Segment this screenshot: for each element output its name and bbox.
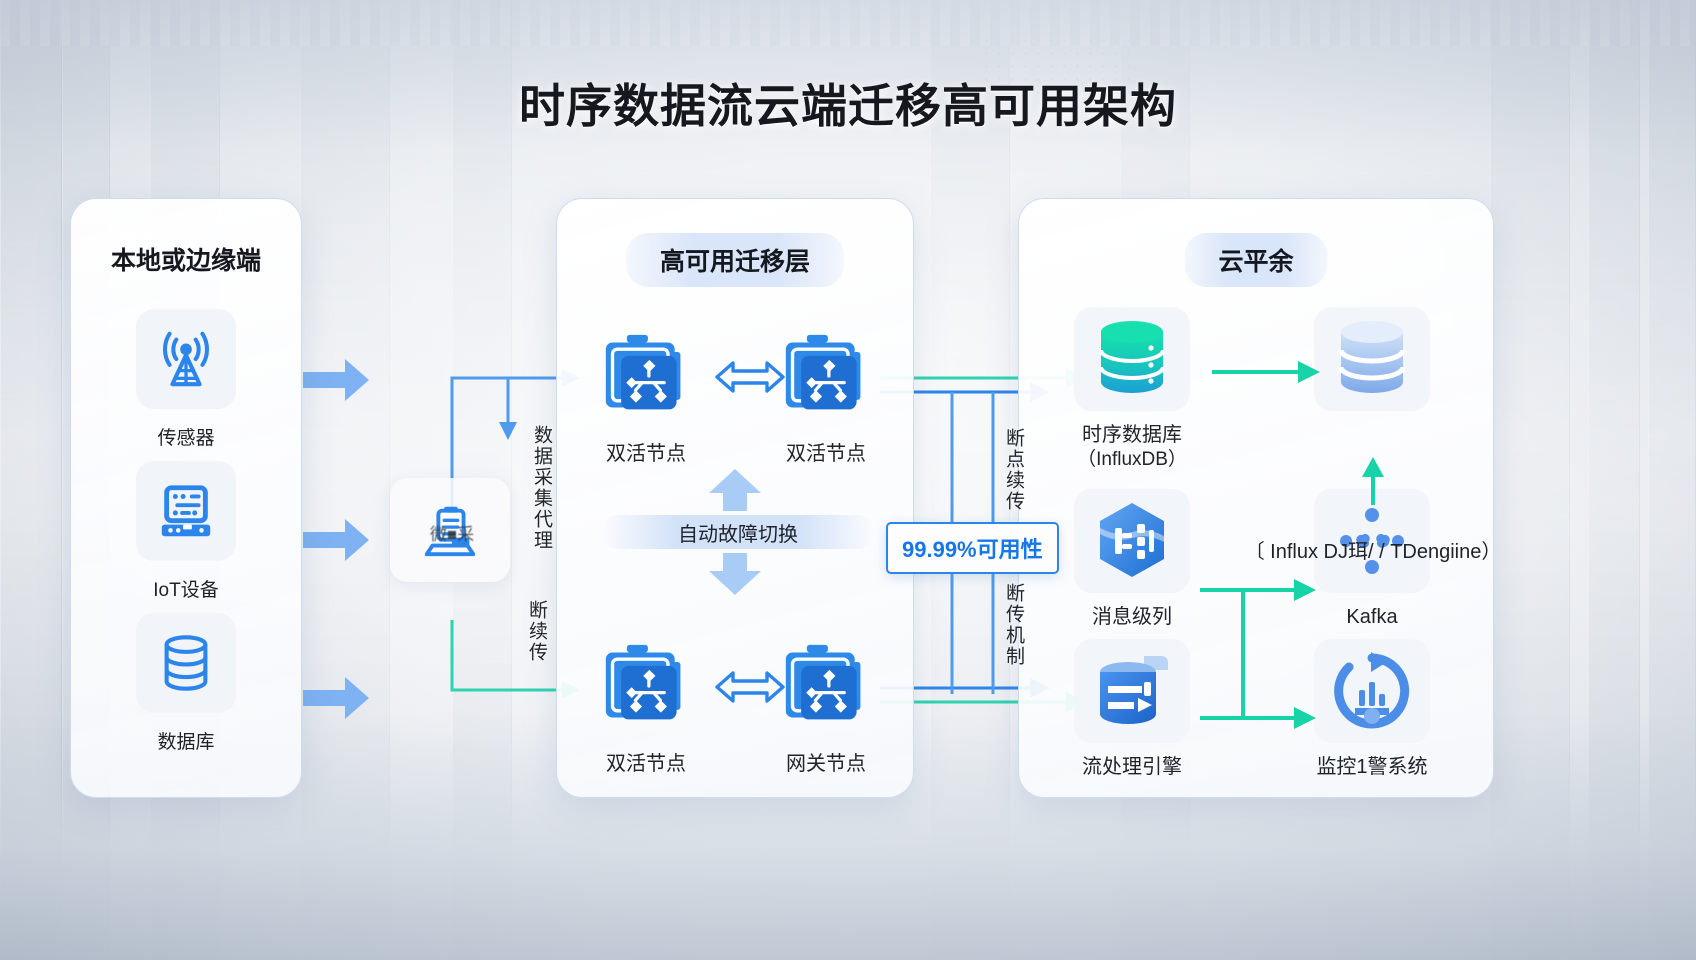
node-label: 双活节点 [571, 437, 721, 466]
arrow-up-icon [707, 467, 763, 518]
cloud-cell-label: 时序数据库 （InfluxDB） [1047, 423, 1217, 472]
source-item-iot-device[interactable]: IoT设备 [95, 461, 277, 602]
cloud-cell-database-stack[interactable] [1287, 307, 1457, 423]
arrowhead-down [499, 422, 517, 440]
source-label: 数据库 [95, 727, 277, 754]
page-title: 时序数据流云端迁移高可用架构 [0, 70, 1696, 136]
failover-label: 自动故障切换 [601, 515, 875, 549]
availability-badge: 99.99%可用性 [886, 522, 1059, 574]
vertical-label-data-collection-agent: 数据采集代理 [528, 425, 555, 551]
panel-mid-title: 高可用迁移层 [626, 233, 844, 287]
node-gateway[interactable]: 网关节点 [751, 639, 901, 776]
node-active-active-top-left[interactable]: 双活节点 [571, 329, 721, 466]
cloud-cell-stream-processing[interactable]: 流处理引擎 [1047, 639, 1217, 780]
antenna-tower-icon [136, 309, 236, 409]
cloud-cell-label: Kafka [1287, 605, 1457, 630]
active-active-node-icon [571, 639, 721, 731]
source-item-sensor[interactable]: 传感器 [95, 309, 277, 450]
active-active-node-icon [571, 329, 721, 421]
source-label: 传感器 [95, 423, 277, 450]
node-label: 网关节点 [751, 747, 901, 776]
vertical-label-resume-transfer: 断续传 [523, 600, 550, 663]
cloud-cell-label: 消息级列 [1047, 605, 1217, 630]
vertical-label-breakpoint-resume: 断点续传 [1000, 428, 1027, 512]
cloud-cell-label: 监控1警系统 [1287, 755, 1457, 780]
panel-left-title: 本地或边缘端 [71, 241, 301, 277]
source-item-database[interactable]: 数据库 [95, 613, 277, 754]
collector-label: 微■采 [396, 520, 508, 545]
cloud-cell-label: 流处理引擎 [1047, 755, 1217, 780]
database-stack-icon [1314, 307, 1430, 411]
source-label: IoT设备 [95, 575, 277, 602]
server-device-icon [136, 461, 236, 561]
panel-ha-migration: 高可用迁移层 双活节点 [556, 198, 914, 798]
node-active-active-top-right[interactable]: 双活节点 [751, 329, 901, 466]
arrow-down-icon [707, 551, 763, 602]
node-label: 双活节点 [571, 747, 721, 776]
arrow-source-to-collector [303, 359, 369, 719]
timeseries-database-icon [1074, 307, 1190, 411]
node-active-active-bottom-left[interactable]: 双活节点 [571, 639, 721, 776]
stream-processing-icon [1074, 639, 1190, 743]
double-arrow-horizontal-icon [713, 667, 787, 707]
double-arrow-horizontal-icon [713, 357, 787, 397]
database-cylinder-icon [136, 613, 236, 713]
node-label: 双活节点 [751, 437, 901, 466]
monitoring-alert-icon [1314, 639, 1430, 743]
message-queue-icon [1074, 489, 1190, 593]
panel-cloud-platform: 云平余 时序数据库 （InfluxDB） [1018, 198, 1494, 798]
cloud-cell-timeseries-database[interactable]: 时序数据库 （InfluxDB） [1047, 307, 1217, 472]
vertical-label-break-mechanism: 断传机制 [1000, 583, 1027, 667]
panel-local-edge: 本地或边缘端 传感器 [70, 198, 302, 798]
cloud-cell-monitoring-alert[interactable]: 监控1警系统 [1287, 639, 1457, 780]
database-variant-caption: 〔 Influx DJ珥/ / TDengiine） [1233, 535, 1513, 564]
panel-right-title: 云平余 [1184, 233, 1327, 287]
cloud-cell-message-queue[interactable]: 消息级列 [1047, 489, 1217, 630]
